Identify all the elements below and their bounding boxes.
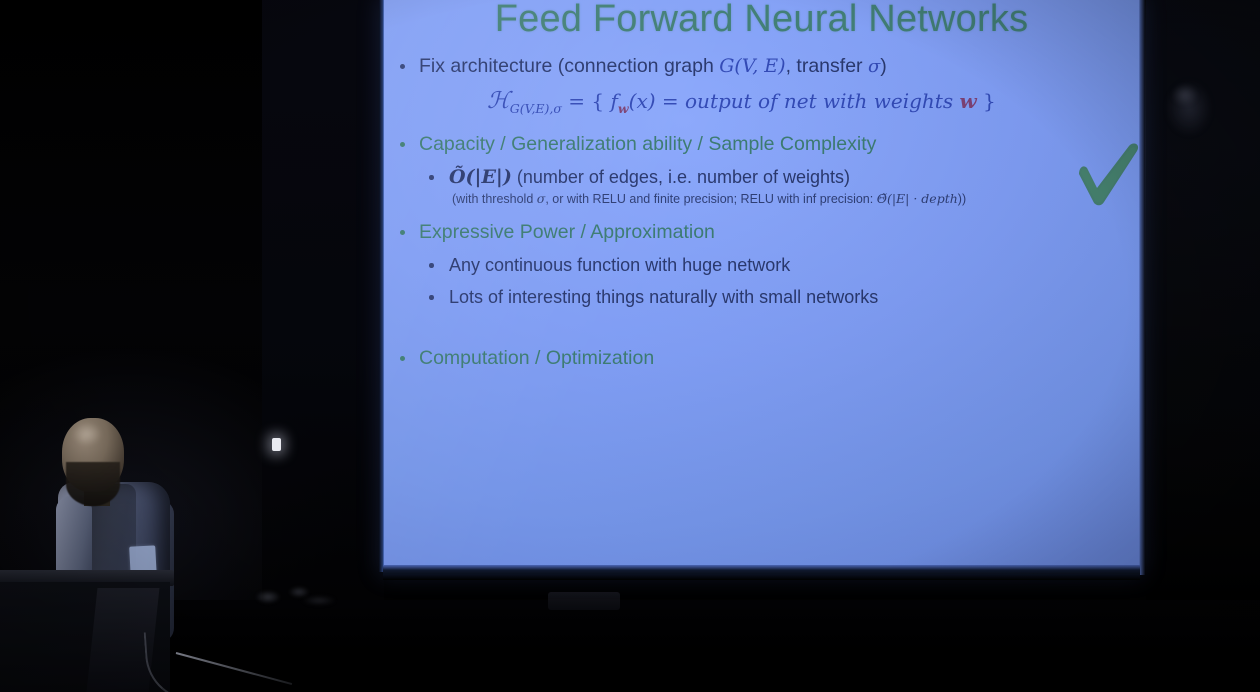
bullet-capacity: Capacity / Generalization ability / Samp…: [383, 130, 1140, 158]
lecture-hall-scene: Feed Forward Neural Networks Fix archite…: [0, 0, 1260, 692]
bullet-any-continuous-function: Any continuous function with huge networ…: [383, 252, 1140, 278]
function-subscript-w: w: [618, 101, 629, 116]
bullet-text-before: Fix architecture (connection graph: [419, 55, 719, 77]
footnote-theta: Θ̃(|E| ·: [877, 191, 922, 206]
equation-subscript: G(V,E),σ: [510, 101, 562, 116]
projection-screen: Feed Forward Neural Networks Fix archite…: [383, 0, 1140, 572]
math-otilde-edges: Õ(|E|): [449, 166, 512, 188]
slide-title: Feed Forward Neural Networks: [383, 0, 1140, 41]
screen-frame-left: [379, 0, 384, 572]
presentation-slide: Feed Forward Neural Networks Fix archite…: [383, 0, 1140, 572]
footnote-part1: (with threshold: [452, 192, 537, 206]
bullet-edge-count: Õ(|E|) (number of edges, i.e. number of …: [383, 164, 1140, 190]
equation-eq2: = output of net with weights: [656, 89, 960, 113]
presenter-head-highlight: [72, 422, 102, 446]
cal-H-symbol: ℋ: [487, 88, 510, 114]
footnote-part2: , or with RELU and finite precision; REL…: [545, 192, 876, 206]
screen-frame-bottom-shadow: [383, 574, 1140, 580]
footnote-part3: )): [958, 192, 966, 206]
math-graph-symbol: G(V, E): [719, 55, 785, 77]
bullet-text-middle: , transfer: [786, 55, 868, 77]
slide-bullet-list: Fix architecture (connection graph G(V, …: [383, 52, 1140, 372]
bullet-small-networks: Lots of interesting things naturally wit…: [383, 284, 1140, 310]
function-argument: (x): [629, 89, 656, 113]
presenter-beard: [66, 462, 120, 506]
equation-close: }: [977, 89, 996, 113]
hypothesis-class-equation: ℋG(V,E),σ = { fw(x) = output of net with…: [383, 88, 1140, 116]
microphone-cable: [144, 624, 271, 692]
footnote-depth: depth: [921, 191, 957, 206]
equation-eq1: = {: [562, 89, 611, 113]
math-sigma-symbol: σ: [868, 56, 880, 77]
bullet-fix-architecture: Fix architecture (connection graph G(V, …: [383, 52, 1140, 81]
wall-panel-left: [262, 0, 384, 600]
screen-frame-right: [1139, 0, 1145, 575]
presenter-figure: [0, 400, 280, 692]
stage-table: [548, 592, 620, 610]
wall-fixture-detail: [1172, 84, 1198, 106]
bullet-text-after: ): [880, 55, 887, 77]
footnote-precision: (with threshold σ, or with RELU and fini…: [383, 190, 1140, 208]
background-light-c: [302, 596, 336, 605]
bullet-edge-count-text: (number of edges, i.e. number of weights…: [517, 167, 850, 187]
bullet-expressive-power: Expressive Power / Approximation: [383, 218, 1140, 246]
function-f: f: [610, 89, 617, 113]
bullet-computation-optimization: Computation / Optimization: [383, 344, 1140, 372]
weights-variable-w: w: [959, 89, 976, 113]
